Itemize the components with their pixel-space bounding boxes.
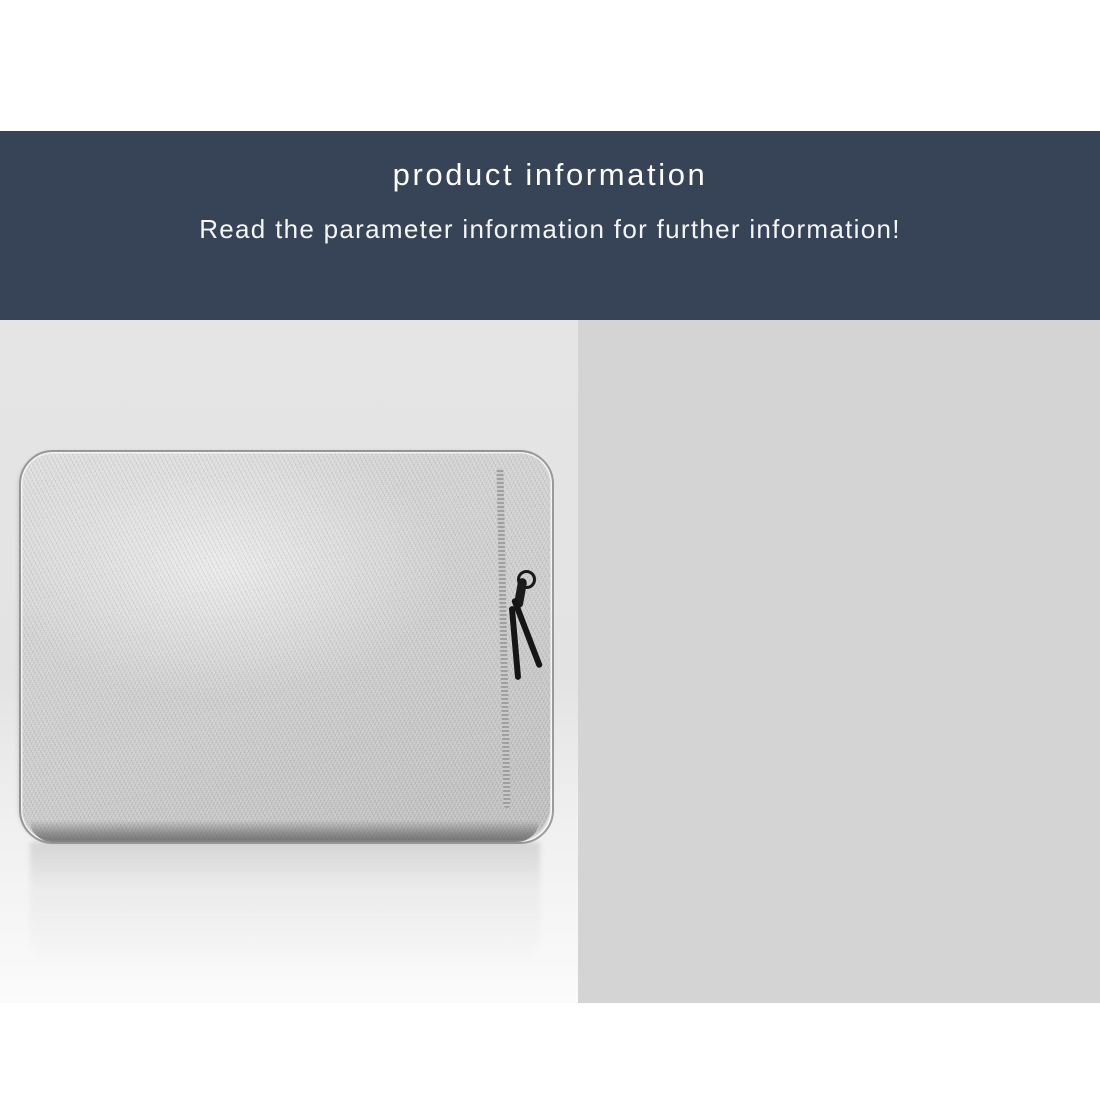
- specification-panel: inch external internal weight 11.6 33.5×…: [578, 320, 1100, 1003]
- product-image-panel: [0, 320, 578, 1003]
- content-area: inch external internal weight 11.6 33.5×…: [0, 320, 1100, 1003]
- sleeve-bottom-shadow: [30, 820, 539, 842]
- page-subtitle: Read the parameter information for furth…: [199, 216, 901, 242]
- product-photo: [0, 320, 578, 1003]
- sleeve-piping-edge: [19, 450, 554, 844]
- page-title: product information: [393, 159, 708, 190]
- product-reflection: [30, 842, 540, 972]
- product-information-banner: product information Read the parameter i…: [0, 131, 1100, 320]
- product-information-page: product information Read the parameter i…: [0, 0, 1100, 1100]
